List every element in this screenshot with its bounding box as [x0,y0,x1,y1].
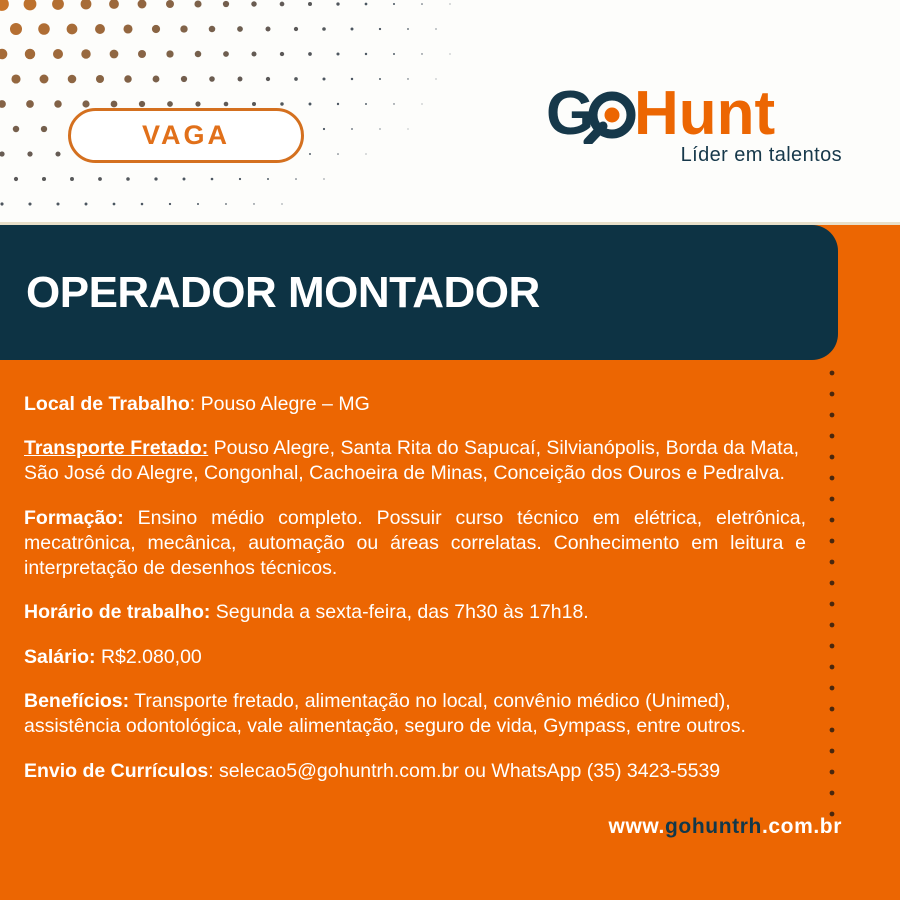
horario-label: Horário de trabalho: [24,601,210,623]
salario-label: Salário: [24,646,96,668]
section-horario-de-trabalho: Horário de trabalho: Segunda a sexta-fei… [24,600,806,625]
section-transporte-fretado: Transporte Fretado: Pouso Alegre, Santa … [24,436,806,486]
dotted-vertical-rule [828,368,836,823]
beneficios-value: Transporte fretado, alimentação no local… [24,690,746,737]
transporte-label: Transporte Fretado: [24,437,208,459]
website-name: gohuntrh [665,815,762,838]
envio-separator: : [208,760,219,782]
section-beneficios: Benefícios: Transporte fretado, alimenta… [24,689,806,739]
website-footer[interactable]: www.gohuntrh.com.br [609,815,842,839]
logo-tagline: Líder em talentos [681,144,842,167]
job-title-banner: OPERADOR MONTADOR [0,225,838,360]
website-prefix: www. [609,815,665,838]
section-local-de-trabalho: Local de Trabalho: Pouso Alegre – MG [24,392,806,417]
local-value: Pouso Alegre – MG [201,393,370,415]
header-band: VAGA G Hunt Líder em talentos [0,0,900,225]
envio-label: Envio de Currículos [24,760,208,782]
local-label: Local de Trabalho [24,393,190,415]
horario-value: Segunda a sexta-feira, das 7h30 às 17h18… [210,601,588,623]
logo-glyphs: G Hunt [546,82,842,144]
section-envio-de-curriculos: Envio de Currículos: selecao5@gohuntrh.c… [24,759,806,784]
section-salario: Salário: R$2.080,00 [24,645,806,670]
logo-wordmark: G Hunt [542,82,842,144]
svg-text:Hunt: Hunt [634,82,775,144]
section-formacao: Formação: Ensino médio completo. Possuir… [24,506,806,581]
job-details: Local de Trabalho: Pouso Alegre – MG Tra… [24,372,806,784]
envio-value: selecao5@gohuntrh.com.br ou WhatsApp (35… [219,760,720,782]
svg-text:G: G [546,82,594,144]
beneficios-label: Benefícios: [24,690,129,712]
vaga-badge[interactable]: VAGA [68,108,304,163]
gohunt-logo[interactable]: G Hunt Líder em talentos [542,82,842,182]
salario-value: R$2.080,00 [96,646,202,668]
page-title: OPERADOR MONTADOR [0,268,540,318]
job-posting-poster: VAGA G Hunt Líder em talentos [0,0,900,900]
formacao-label: Formação: [24,507,124,529]
website-suffix: .com.br [762,815,842,838]
formacao-value: Ensino médio completo. Possuir curso téc… [24,507,806,579]
local-separator: : [190,393,201,415]
vaga-badge-label: VAGA [142,120,230,151]
magnifier-icon [588,96,631,142]
